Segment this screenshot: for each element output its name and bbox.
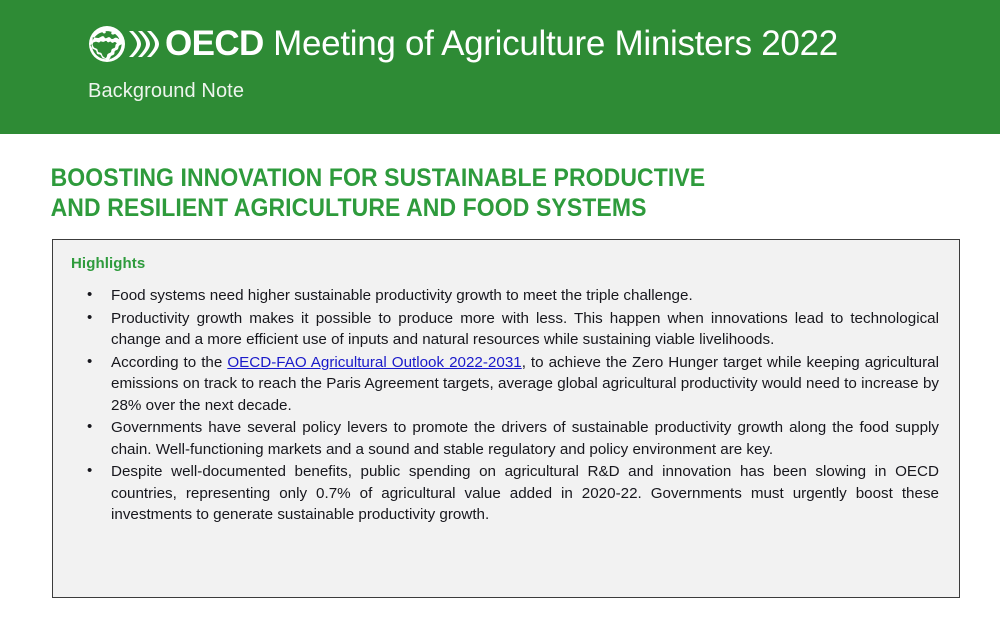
highlight-bullet-3-prefix: According to the [111,354,227,371]
masthead-title-rest: Meeting of Agriculture Ministers 2022 [264,24,838,63]
highlight-bullet-1-text: Food systems need higher sustainable pro… [111,287,693,304]
highlight-bullet-1: Food systems need higher sustainable pro… [69,285,941,307]
highlight-bullet-5-text: Despite well-documented benefits, public… [111,463,939,523]
masthead-subtitle: Background Note [88,78,1000,104]
masthead-brand-line: OECD Meeting of Agriculture Ministers 20… [88,18,1000,70]
highlight-bullet-4: Governments have several policy levers t… [69,417,941,460]
masthead-title: OECD Meeting of Agriculture Ministers 20… [165,24,838,64]
oecd-chevrons-icon [127,27,161,61]
page-title: BOOSTING INNOVATION FOR SUSTAINABLE PROD… [0,134,920,223]
highlights-panel: Highlights Food systems need higher sust… [52,239,960,598]
highlights-list: Food systems need higher sustainable pro… [69,285,941,526]
highlight-bullet-2-text: Productivity growth makes it possible to… [111,310,939,349]
page-title-line-2: AND RESILIENT AGRICULTURE AND FOOD SYSTE… [51,193,920,223]
oecd-logo [88,25,161,63]
masthead-title-brand: OECD [165,24,264,63]
highlight-bullet-5: Despite well-documented benefits, public… [69,461,941,526]
oecd-fao-outlook-link[interactable]: OECD-FAO Agricultural Outlook 2022-2031 [227,354,521,371]
oecd-globe-icon [88,25,126,63]
highlights-heading: Highlights [71,254,941,273]
highlight-bullet-4-text: Governments have several policy levers t… [111,419,939,458]
document-body: BOOSTING INNOVATION FOR SUSTAINABLE PROD… [0,134,1000,223]
highlight-bullet-3: According to the OECD-FAO Agricultural O… [69,352,941,417]
highlight-bullet-2: Productivity growth makes it possible to… [69,308,941,351]
page-masthead: OECD Meeting of Agriculture Ministers 20… [0,0,1000,134]
page-title-line-1: BOOSTING INNOVATION FOR SUSTAINABLE PROD… [51,163,920,193]
